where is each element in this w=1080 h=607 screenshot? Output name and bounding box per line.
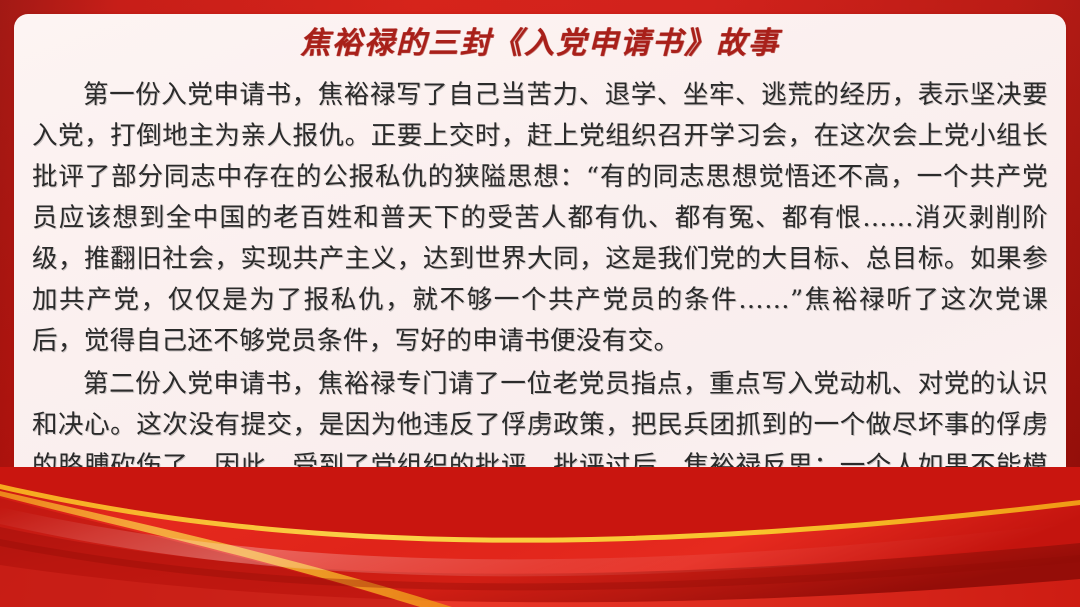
presentation-slide: 焦裕禄的三封《入党申请书》故事 第一份入党申请书，焦裕禄写了自己当苦力、退学、坐… bbox=[0, 0, 1080, 607]
paragraph-two: 第二份入党申请书，焦裕禄专门请了一位老党员指点，重点写入党动机、对党的认识和决心… bbox=[32, 364, 1048, 510]
content-panel: 焦裕禄的三封《入党申请书》故事 第一份入党申请书，焦裕禄写了自己当苦力、退学、坐… bbox=[14, 14, 1066, 510]
body-text-block: 第一份入党申请书，焦裕禄写了自己当苦力、退学、坐牢、逃荒的经历，表示坚决要入党，… bbox=[14, 63, 1066, 510]
paragraph-one: 第一份入党申请书，焦裕禄写了自己当苦力、退学、坐牢、逃荒的经历，表示坚决要入党，… bbox=[32, 75, 1048, 362]
slide-title: 焦裕禄的三封《入党申请书》故事 bbox=[14, 14, 1066, 63]
